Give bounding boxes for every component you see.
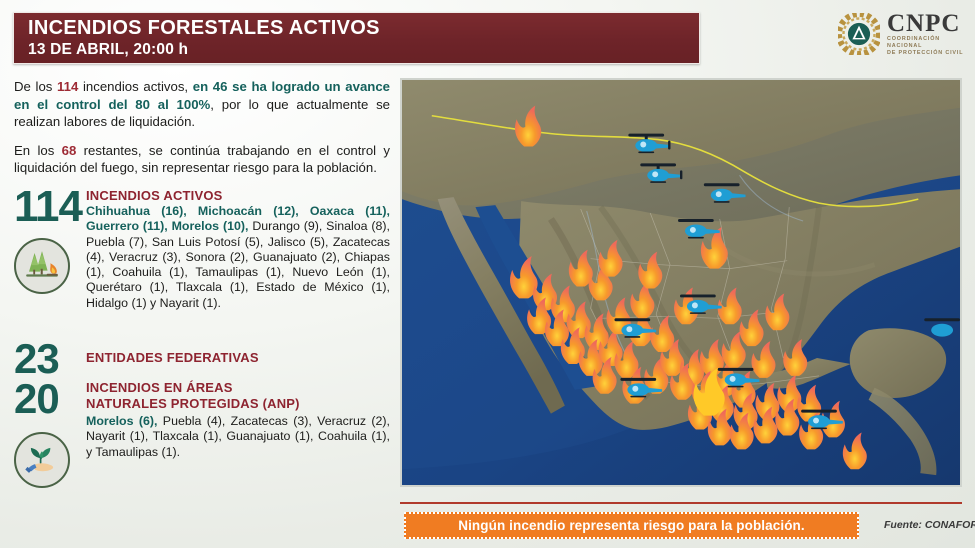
left-content-column: De los 114 incendios activos, en 46 se h… (14, 78, 390, 488)
intro-p2-text-a: En los (14, 143, 62, 158)
entities-label: ENTIDADES FEDERATIVAS (86, 340, 390, 365)
active-fires-label: INCENDIOS ACTIVOS (86, 188, 390, 203)
civil-protection-triangle-icon (838, 13, 880, 55)
infographic-page: INCENDIOS FORESTALES ACTIVOS 13 DE ABRIL… (0, 0, 975, 548)
anp-count: 20 (14, 380, 59, 418)
intro-paragraph-1: De los 114 incendios activos, en 46 se h… (14, 78, 390, 131)
intro-p1-text-b: incendios activos, (78, 79, 192, 94)
entities-count: 23 (14, 340, 59, 378)
source-credit: Fuente: CONAFOR (884, 519, 975, 531)
map-satellite-image (402, 80, 960, 486)
cnpc-logo-text: CNPC COORDINACIÓN NACIONAL DE PROTECCIÓN… (887, 12, 970, 57)
anp-label-line2: NATURALES PROTEGIDAS (ANP) (86, 396, 390, 411)
header-bar: INCENDIOS FORESTALES ACTIVOS 13 DE ABRIL… (13, 12, 700, 64)
cnpc-acronym: CNPC (887, 12, 970, 36)
intro-total-fires: 114 (57, 79, 78, 94)
active-fires-count: 114 (14, 188, 82, 226)
footer-divider (400, 502, 962, 504)
cnpc-logo: CNPC COORDINACIÓN NACIONAL DE PROTECCIÓN… (838, 10, 970, 58)
entities-body: ENTIDADES FEDERATIVAS (86, 340, 390, 365)
active-fires-state-list: Chihuahua (16), Michoacán (12), Oaxaca (… (86, 204, 390, 311)
page-title: INCENDIOS FORESTALES ACTIVOS (28, 17, 699, 40)
anp-label-line1: INCENDIOS EN ÁREAS (86, 380, 390, 395)
cnpc-subtitle-line1: COORDINACIÓN NACIONAL (887, 36, 970, 50)
risk-status-text: Ningún incendio representa riesgo para l… (458, 518, 805, 533)
forest-fire-icon (14, 238, 70, 294)
stat-anp-fires: 20 INCENDIOS EN ÁREAS NATURALES PROTEGID… (14, 380, 390, 460)
anp-body: INCENDIOS EN ÁREAS NATURALES PROTEGIDAS … (86, 380, 390, 460)
stat-federal-entities: 23 ENTIDADES FEDERATIVAS (14, 340, 390, 374)
cnpc-subtitle-line2: DE PROTECCIÓN CIVIL (887, 50, 970, 57)
active-fires-body: INCENDIOS ACTIVOS Chihuahua (16), Michoa… (86, 188, 390, 311)
intro-paragraph-2: En los 68 restantes, se continúa trabaja… (14, 142, 390, 177)
anp-top-state: Morelos (6), (86, 414, 157, 428)
mexico-fires-map[interactable] (400, 78, 962, 487)
page-subtitle-date: 13 DE ABRIL, 20:00 h (28, 40, 699, 59)
anp-state-list: Morelos (6), Puebla (4), Zacatecas (3), … (86, 414, 390, 460)
stat-active-fires: 114 INCENDIOS ACTIVOS Chihuahua (16), Mi… (14, 188, 390, 338)
hand-holding-plant-icon (14, 432, 70, 488)
intro-p1-text-a: De los (14, 79, 57, 94)
intro-remaining-fires: 68 (62, 143, 77, 158)
risk-status-banner: Ningún incendio representa riesgo para l… (404, 512, 859, 539)
